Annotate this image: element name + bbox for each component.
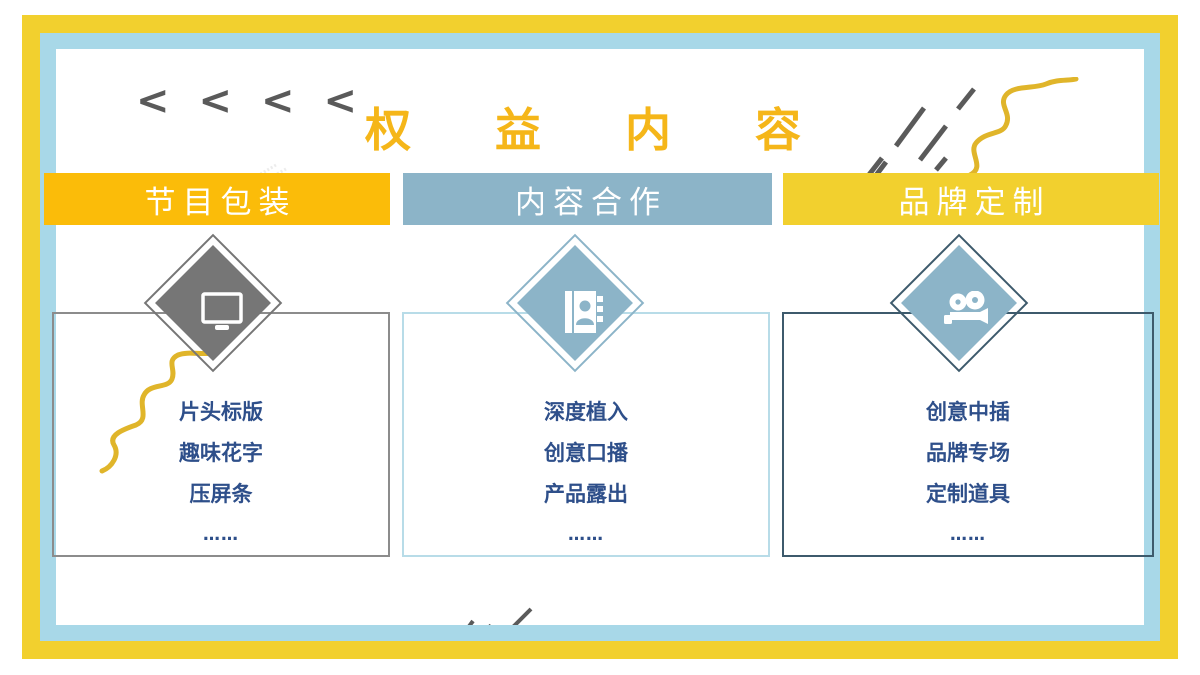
movie-camera-icon xyxy=(910,254,1026,370)
list-item: 产品露出 xyxy=(404,474,768,515)
diagonal-dashes-decoration-bottom xyxy=(451,607,561,625)
list-item: 定制道具 xyxy=(784,474,1152,515)
diamond-badge-content-cooperation[interactable] xyxy=(526,254,642,370)
list-ellipsis: …… xyxy=(404,515,768,556)
list-ellipsis: …… xyxy=(784,515,1152,556)
list-ellipsis: …… xyxy=(54,515,388,556)
list-item: 创意中插 xyxy=(784,392,1152,433)
list-item: 压屏条 xyxy=(54,474,388,515)
list-item: 品牌专场 xyxy=(784,433,1152,474)
list-item: 片头标版 xyxy=(54,392,388,433)
list-item: 创意口播 xyxy=(404,433,768,474)
slide-canvas: < < < < > > > > 权 益 内 容 节目包装 内容合作 品牌定制 片… xyxy=(0,0,1200,675)
header-bar-brand-customization[interactable]: 品牌定制 xyxy=(783,173,1159,225)
list-item: 深度植入 xyxy=(404,392,768,433)
diamond-badge-brand-customization[interactable] xyxy=(910,254,1026,370)
header-bar-content-cooperation[interactable]: 内容合作 xyxy=(403,173,772,225)
page-title: 权 益 内 容 xyxy=(0,94,1200,160)
monitor-icon xyxy=(164,254,280,370)
header-bar-program-packaging[interactable]: 节目包装 xyxy=(44,173,390,225)
content-list-content-cooperation: 深度植入 创意口播 产品露出 …… xyxy=(404,392,768,556)
content-list-program-packaging: 片头标版 趣味花字 压屏条 …… xyxy=(54,392,388,556)
header-bar-row: 节目包装 内容合作 品牌定制 xyxy=(0,173,1200,225)
address-book-icon xyxy=(526,254,642,370)
content-list-brand-customization: 创意中插 品牌专场 定制道具 …… xyxy=(784,392,1152,556)
list-item: 趣味花字 xyxy=(54,433,388,474)
diamond-badge-program-packaging[interactable] xyxy=(164,254,280,370)
